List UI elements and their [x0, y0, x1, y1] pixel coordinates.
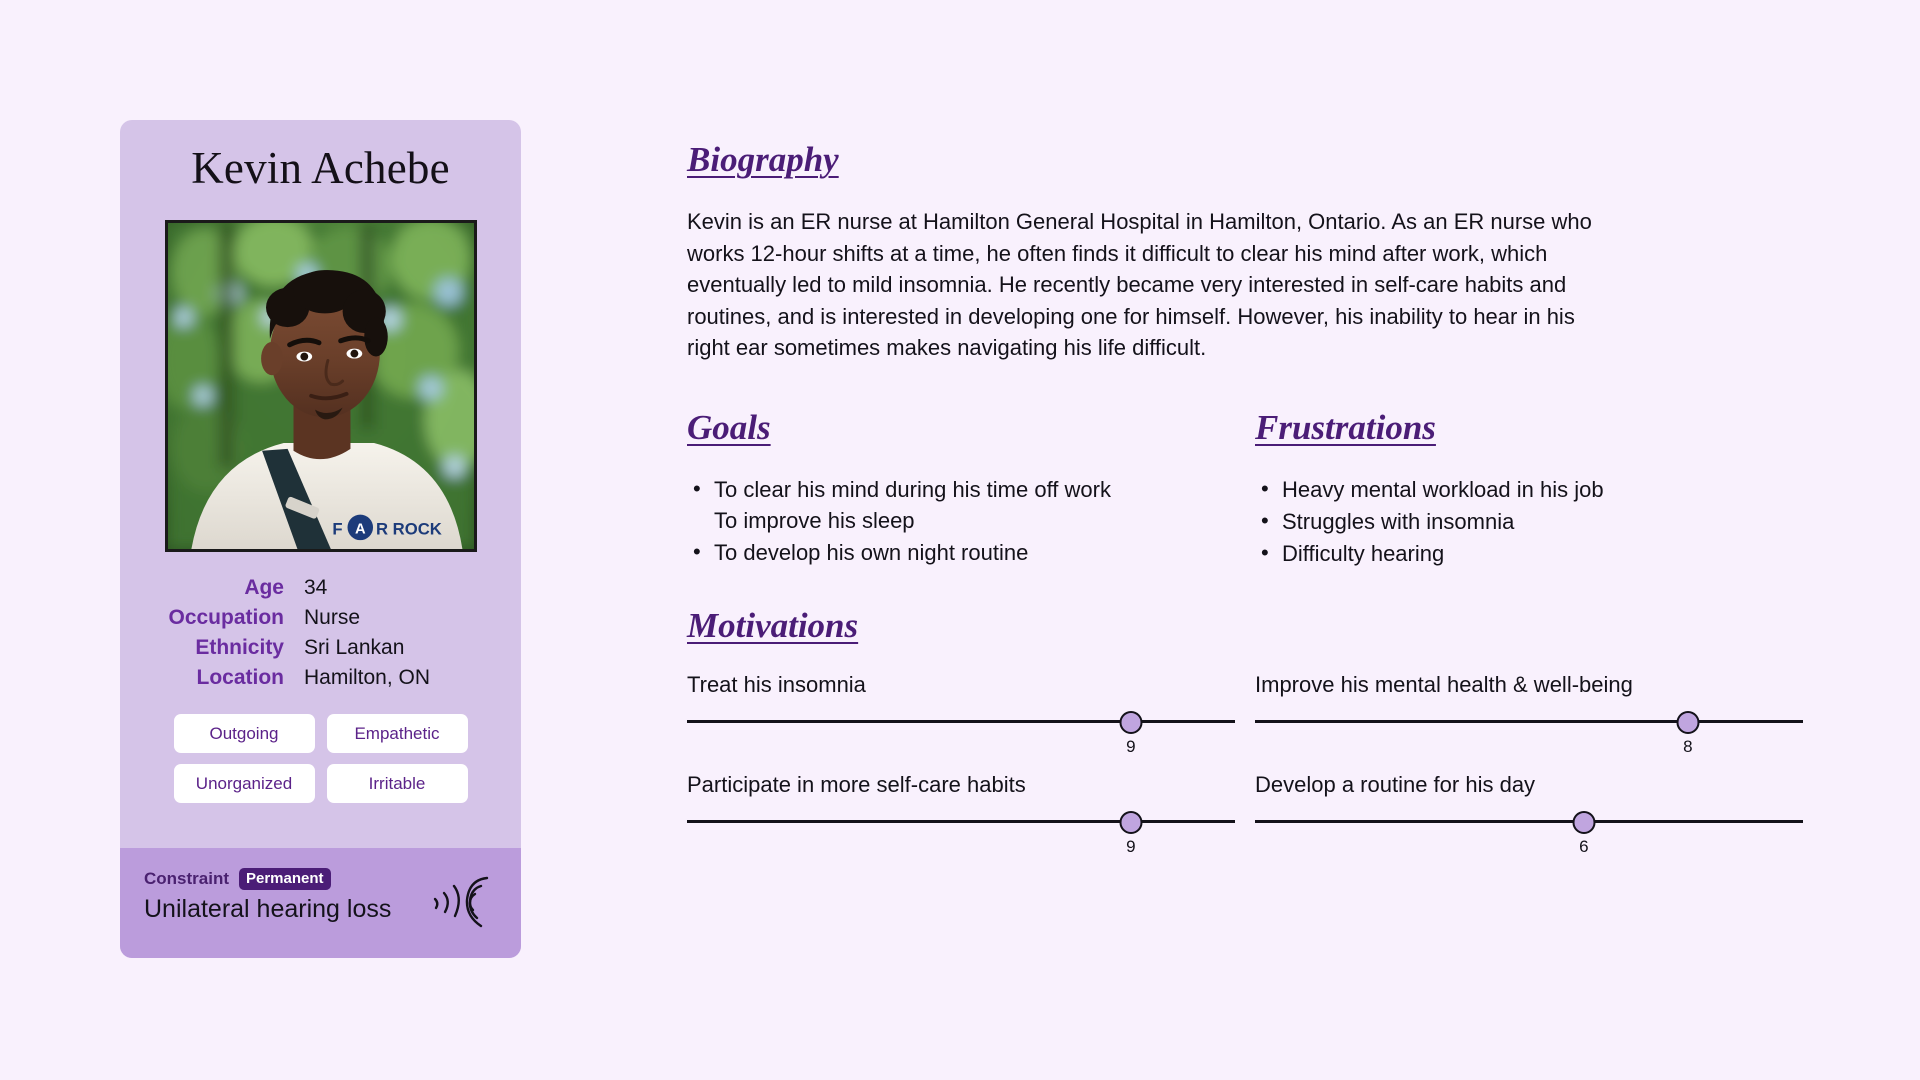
slider-thumb[interactable] — [1119, 711, 1142, 734]
goals-section: Goals To clear his mind during his time … — [687, 408, 1255, 570]
persona-card: Kevin Achebe — [120, 120, 521, 958]
attribute-value-ethnicity: Sri Lankan — [304, 636, 499, 660]
persona-page: Kevin Achebe — [0, 0, 1920, 1080]
constraint-text: Constraint Permanent Unilateral hearing … — [144, 866, 391, 924]
biography-heading: Biography — [687, 140, 839, 180]
frustration-text: Heavy mental workload in his job — [1282, 477, 1604, 502]
svg-text:R ROCK: R ROCK — [375, 519, 441, 538]
motivations-section: Motivations Treat his insomnia 9 Improve… — [687, 606, 1807, 845]
frustrations-heading: Frustrations — [1255, 408, 1436, 448]
persona-traits: Outgoing Empathetic Unorganized Irritabl… — [174, 714, 468, 803]
goals-frustrations-row: Goals To clear his mind during his time … — [687, 408, 1807, 570]
motivation-label: Treat his insomnia — [687, 672, 1235, 698]
motivations-grid: Treat his insomnia 9 Improve his mental … — [687, 672, 1807, 845]
trait-chip[interactable]: Unorganized — [174, 764, 315, 803]
svg-text:A: A — [354, 521, 365, 537]
motivation-item: Improve his mental health & well-being 8 — [1255, 672, 1803, 745]
constraint-band: Constraint Permanent Unilateral hearing … — [120, 848, 521, 958]
motivation-slider[interactable]: 6 — [1255, 811, 1803, 845]
goal-text: To develop his own night routine — [714, 540, 1028, 565]
motivation-label: Develop a routine for his day — [1255, 772, 1803, 798]
slider-thumb[interactable] — [1119, 811, 1142, 834]
slider-value: 9 — [1126, 837, 1135, 857]
slider-track[interactable] — [1255, 720, 1803, 723]
frustrations-list: Heavy mental workload in his job Struggl… — [1255, 474, 1807, 569]
slider-track[interactable] — [687, 720, 1235, 723]
motivation-slider[interactable]: 9 — [687, 711, 1235, 745]
attribute-label-age: Age — [120, 576, 284, 600]
biography-text: Kevin is an ER nurse at Hamilton General… — [687, 206, 1597, 364]
trait-chip[interactable]: Irritable — [327, 764, 468, 803]
persona-name: Kevin Achebe — [120, 142, 521, 194]
constraint-header: Constraint Permanent — [144, 868, 391, 890]
motivations-heading: Motivations — [687, 606, 858, 646]
attribute-value-location: Hamilton, ON — [304, 666, 499, 690]
constraint-title: Unilateral hearing loss — [144, 895, 391, 924]
slider-value: 9 — [1126, 737, 1135, 757]
trait-chip[interactable]: Outgoing — [174, 714, 315, 753]
goals-heading: Goals — [687, 408, 771, 448]
attribute-label-occupation: Occupation — [120, 606, 284, 630]
list-item: Difficulty hearing — [1255, 538, 1807, 569]
slider-thumb[interactable] — [1676, 711, 1699, 734]
slider-track[interactable] — [687, 820, 1235, 823]
svg-text:F: F — [332, 519, 342, 538]
motivation-slider[interactable]: 8 — [1255, 711, 1803, 745]
attribute-value-age: 34 — [304, 576, 499, 600]
list-item: Heavy mental workload in his job — [1255, 474, 1807, 505]
attribute-label-location: Location — [120, 666, 284, 690]
attribute-label-ethnicity: Ethnicity — [120, 636, 284, 660]
status-badge: Permanent — [239, 868, 331, 890]
persona-attributes: Age 34 Occupation Nurse Ethnicity Sri La… — [120, 576, 521, 690]
list-item: Struggles with insomnia — [1255, 506, 1807, 537]
goal-text: To clear his mind during his time off wo… — [714, 477, 1111, 502]
motivation-item: Participate in more self-care habits 9 — [687, 772, 1235, 845]
list-item: To develop his own night routine — [687, 537, 1255, 568]
frustration-text: Struggles with insomnia — [1282, 509, 1514, 534]
goals-list: To clear his mind during his time off wo… — [687, 474, 1255, 568]
frustrations-section: Frustrations Heavy mental workload in hi… — [1255, 408, 1807, 570]
motivation-label: Participate in more self-care habits — [687, 772, 1235, 798]
slider-value: 6 — [1579, 837, 1588, 857]
frustration-text: Difficulty hearing — [1282, 541, 1444, 566]
motivation-label: Improve his mental health & well-being — [1255, 672, 1803, 698]
slider-value: 8 — [1683, 737, 1692, 757]
motivation-item: Treat his insomnia 9 — [687, 672, 1235, 745]
attribute-value-occupation: Nurse — [304, 606, 499, 630]
motivation-slider[interactable]: 9 — [687, 811, 1235, 845]
persona-photo: A F R ROCK — [165, 220, 477, 552]
goal-continuation: To improve his sleep — [714, 505, 1255, 536]
constraint-kicker: Constraint — [144, 869, 229, 889]
trait-chip[interactable]: Empathetic — [327, 714, 468, 753]
slider-track[interactable] — [1255, 820, 1803, 823]
motivation-item: Develop a routine for his day 6 — [1255, 772, 1803, 845]
portrait-photo-illustration: A F R ROCK — [168, 223, 474, 549]
persona-details: Biography Kevin is an ER nurse at Hamilt… — [687, 140, 1807, 845]
slider-thumb[interactable] — [1572, 811, 1595, 834]
ear-hearing-icon — [425, 868, 491, 937]
list-item: To clear his mind during his time off wo… — [687, 474, 1255, 536]
